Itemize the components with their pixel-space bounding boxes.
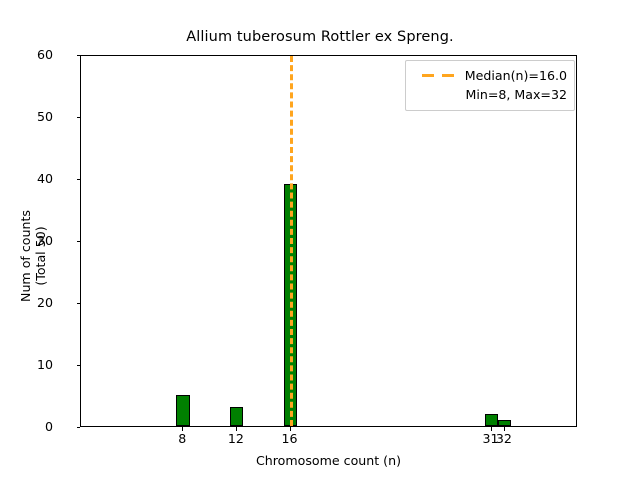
y-axis-label-line-1: Num of counts bbox=[18, 70, 33, 442]
chart-title: Allium tuberosum Rottler ex Spreng. bbox=[0, 29, 640, 45]
chart-figure: Allium tuberosum Rottler ex Spreng. Num … bbox=[0, 0, 640, 480]
y-axis-label-line-2: (Total 50) bbox=[33, 70, 48, 442]
legend-entry-median: Median(n)=16.0 bbox=[413, 66, 567, 85]
y-tick-label-30: 30 bbox=[37, 235, 53, 247]
bar-32 bbox=[498, 420, 511, 426]
bar-8 bbox=[176, 395, 189, 426]
y-tick-label-60: 60 bbox=[37, 49, 53, 61]
y-axis-label: Num of counts (Total 50) bbox=[18, 70, 48, 442]
x-tick-label-32: 32 bbox=[496, 432, 512, 446]
blank-handle-icon bbox=[421, 89, 457, 101]
y-tick-label-40: 40 bbox=[37, 173, 53, 185]
x-axis-label: Chromosome count (n) bbox=[80, 453, 577, 468]
legend-label-minmax: Min=8, Max=32 bbox=[465, 88, 567, 102]
x-tick-mark-8 bbox=[182, 427, 183, 431]
x-tick-mark-12 bbox=[236, 427, 237, 431]
legend-entry-minmax: Min=8, Max=32 bbox=[413, 85, 567, 104]
median-line bbox=[290, 56, 293, 426]
legend-label-median: Median(n)=16.0 bbox=[465, 69, 567, 83]
x-tick-label-16: 16 bbox=[281, 432, 297, 446]
y-tick-label-50: 50 bbox=[37, 111, 53, 123]
bar-12 bbox=[230, 407, 243, 426]
x-tick-mark-32 bbox=[504, 427, 505, 431]
y-tick-label-0: 0 bbox=[45, 421, 53, 433]
bar-31 bbox=[485, 414, 498, 426]
x-tick-mark-31 bbox=[491, 427, 492, 431]
y-tick-label-10: 10 bbox=[37, 359, 53, 371]
chart-legend: Median(n)=16.0 Min=8, Max=32 bbox=[405, 60, 575, 111]
x-tick-mark-16 bbox=[290, 427, 291, 431]
y-tick-mark-0 bbox=[77, 427, 81, 428]
plot-inner bbox=[81, 56, 576, 426]
y-tick-label-20: 20 bbox=[37, 297, 53, 309]
x-tick-label-12: 12 bbox=[228, 432, 244, 446]
dashed-line-icon bbox=[421, 70, 457, 82]
x-tick-label-8: 8 bbox=[178, 432, 186, 446]
